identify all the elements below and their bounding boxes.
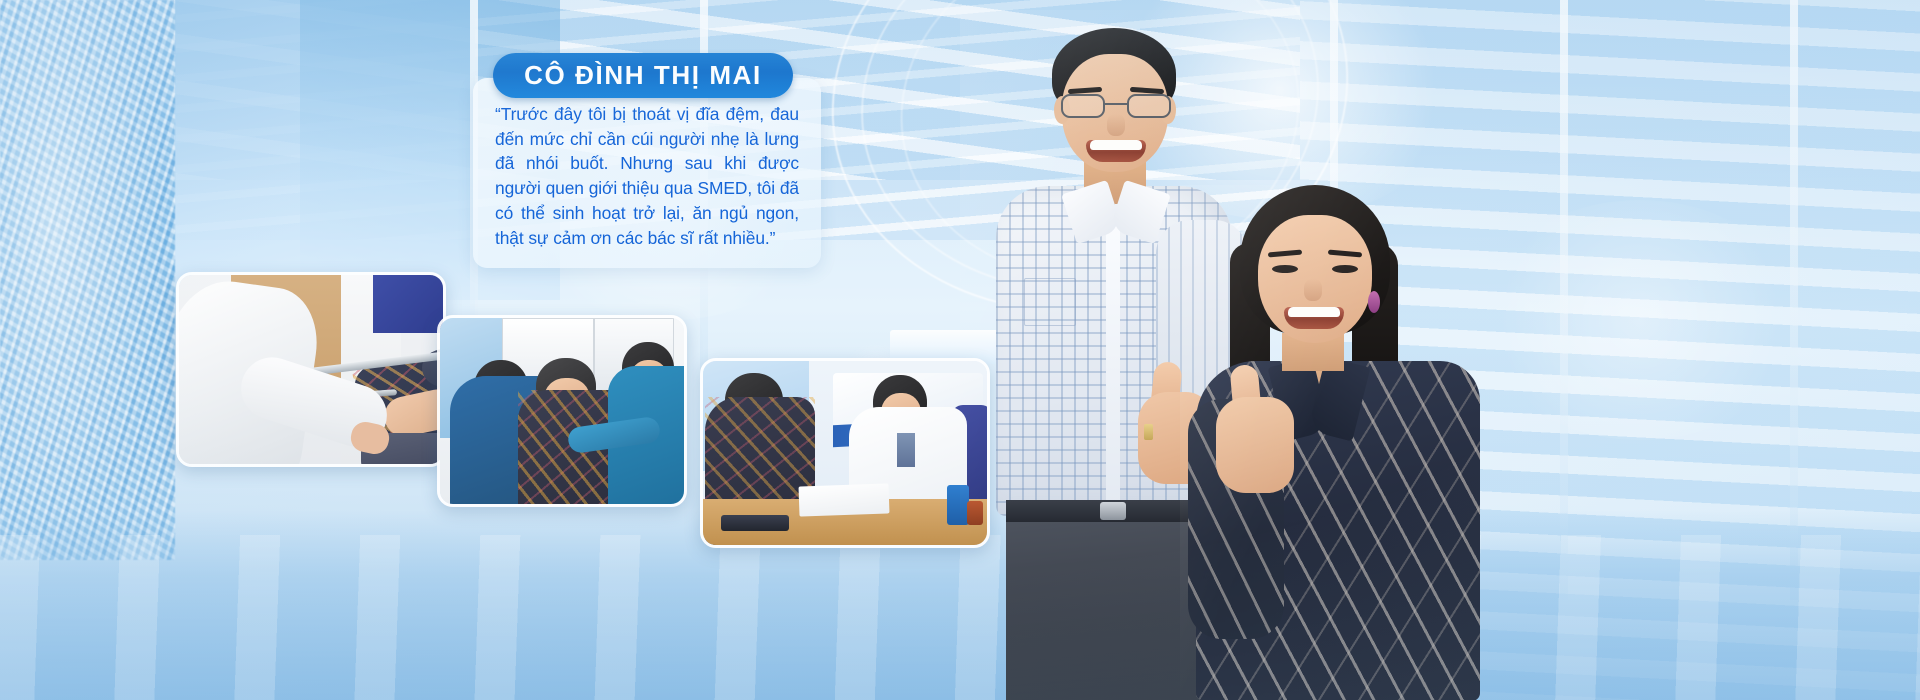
photo-doctor-consulting-patient	[700, 358, 990, 548]
man-belt-buckle	[1100, 502, 1126, 520]
woman-teeth	[1288, 307, 1340, 317]
photo-3-content	[703, 361, 987, 545]
man-nose	[1107, 114, 1125, 136]
patient-name-label: CÔ ĐÌNH THỊ MAI	[524, 60, 762, 91]
testimonial-quote-card: “Trước đây tôi bị thoát vị đĩa đệm, đau …	[473, 78, 821, 268]
woman-earring	[1368, 291, 1380, 313]
testimonial-banner: CÔ ĐÌNH THỊ MAI “Trước đây tôi bị thoát …	[0, 0, 1920, 700]
woman-hand	[1216, 397, 1294, 493]
man-glasses-bridge	[1105, 103, 1127, 105]
background-glass-wall	[0, 0, 175, 560]
woman-eye-left	[1272, 265, 1298, 273]
man-shirt-pocket	[1024, 278, 1076, 326]
man-shirt-placket	[1106, 218, 1120, 508]
man-lens-right	[1127, 94, 1171, 118]
photo-1-blue-accent	[373, 275, 443, 333]
photo-doctor-examining-patient	[176, 272, 446, 467]
photo-3-doctor-tie	[897, 433, 915, 467]
man-wedding-ring	[1144, 424, 1153, 440]
man-teeth	[1090, 140, 1142, 150]
person-woman-thumbs-up	[1180, 185, 1480, 700]
patient-name-badge: CÔ ĐÌNH THỊ MAI	[493, 53, 793, 98]
woman-nose	[1304, 279, 1322, 301]
photo-1-content	[179, 275, 443, 464]
photo-3-paperwork	[799, 483, 890, 516]
man-lens-left	[1061, 94, 1105, 118]
woman-eye-right	[1332, 265, 1358, 273]
testimonial-quote-text: “Trước đây tôi bị thoát vị đĩa đệm, đau …	[495, 102, 799, 250]
photo-2-content	[440, 318, 684, 504]
photo-therapists-treating-woman	[437, 315, 687, 507]
photo-3-keyboard	[721, 515, 789, 531]
background-glow-3	[1480, 200, 1800, 440]
